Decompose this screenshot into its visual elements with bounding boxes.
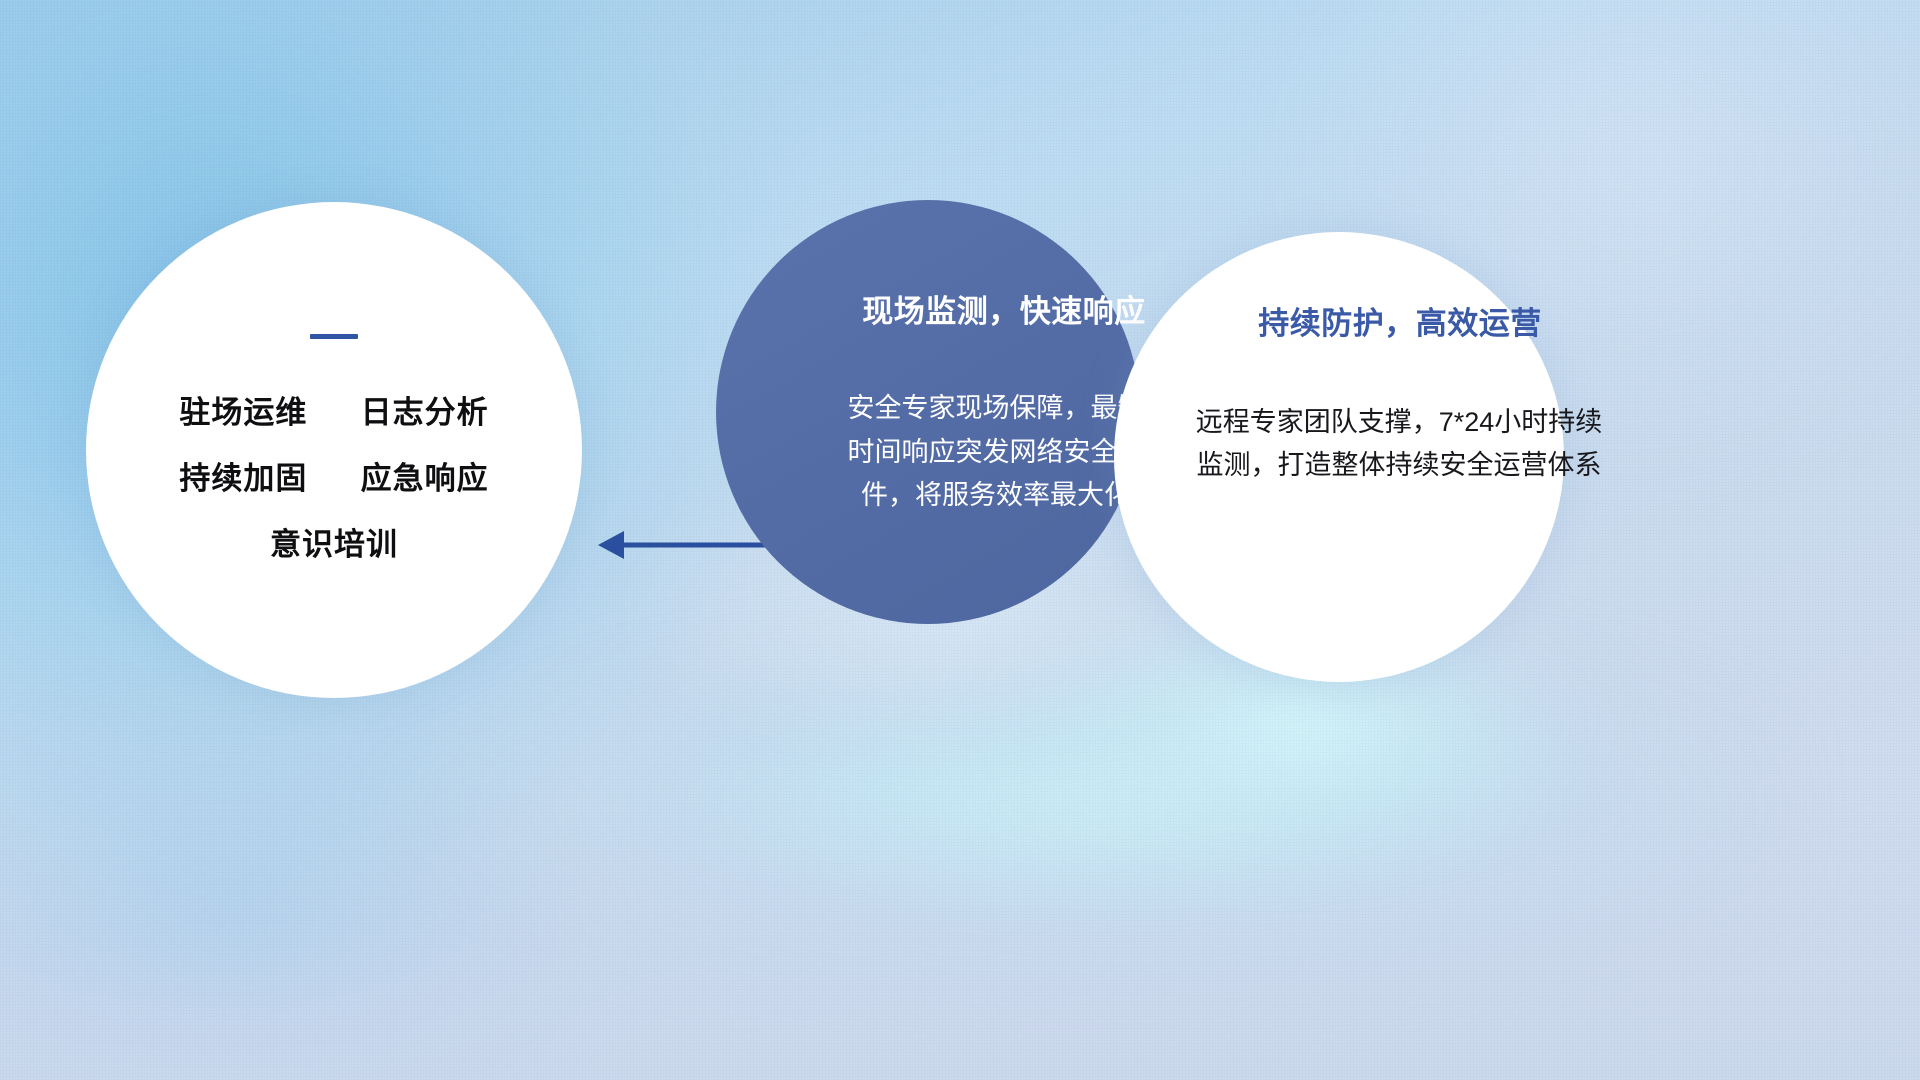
keyword-label: 应急响应 [361, 461, 489, 496]
keyword-row: 意识培训 [270, 525, 398, 566]
keyword-row: 驻场运维 日志分析 [179, 393, 488, 434]
keyword-row: 持续加固 应急响应 [179, 459, 488, 500]
blue-dash-decoration [310, 334, 358, 339]
right-circle-body: 远程专家团队支撑，7*24小时持续监测，打造整体持续安全运营体系 [1193, 401, 1605, 487]
keyword-label: 日志分析 [361, 395, 489, 430]
left-keywords-circle: 驻场运维 日志分析 持续加固 应急响应 意识培训 [86, 202, 582, 698]
keyword-label: 驻场运维 [179, 395, 307, 430]
keyword-label: 持续加固 [179, 461, 307, 496]
right-white-circle: 持续防护，高效运营 远程专家团队支撑，7*24小时持续监测，打造整体持续安全运营… [1114, 232, 1564, 682]
center-circle-title: 现场监测，快速响应 [862, 286, 1146, 331]
center-circle-body: 安全专家现场保障，最短时间响应突发网络安全事件，将服务效率最大化 [846, 387, 1146, 518]
keyword-label: 意识培训 [270, 527, 398, 562]
slide-canvas: 驻场运维 日志分析 持续加固 应急响应 意识培训 现场监测，快速响应 安全专家现… [0, 0, 1920, 1080]
right-circle-title: 持续防护，高效运营 [1258, 298, 1542, 343]
center-blue-circle: 现场监测，快速响应 安全专家现场保障，最短时间响应突发网络安全事件，将服务效率最… [716, 200, 1140, 624]
